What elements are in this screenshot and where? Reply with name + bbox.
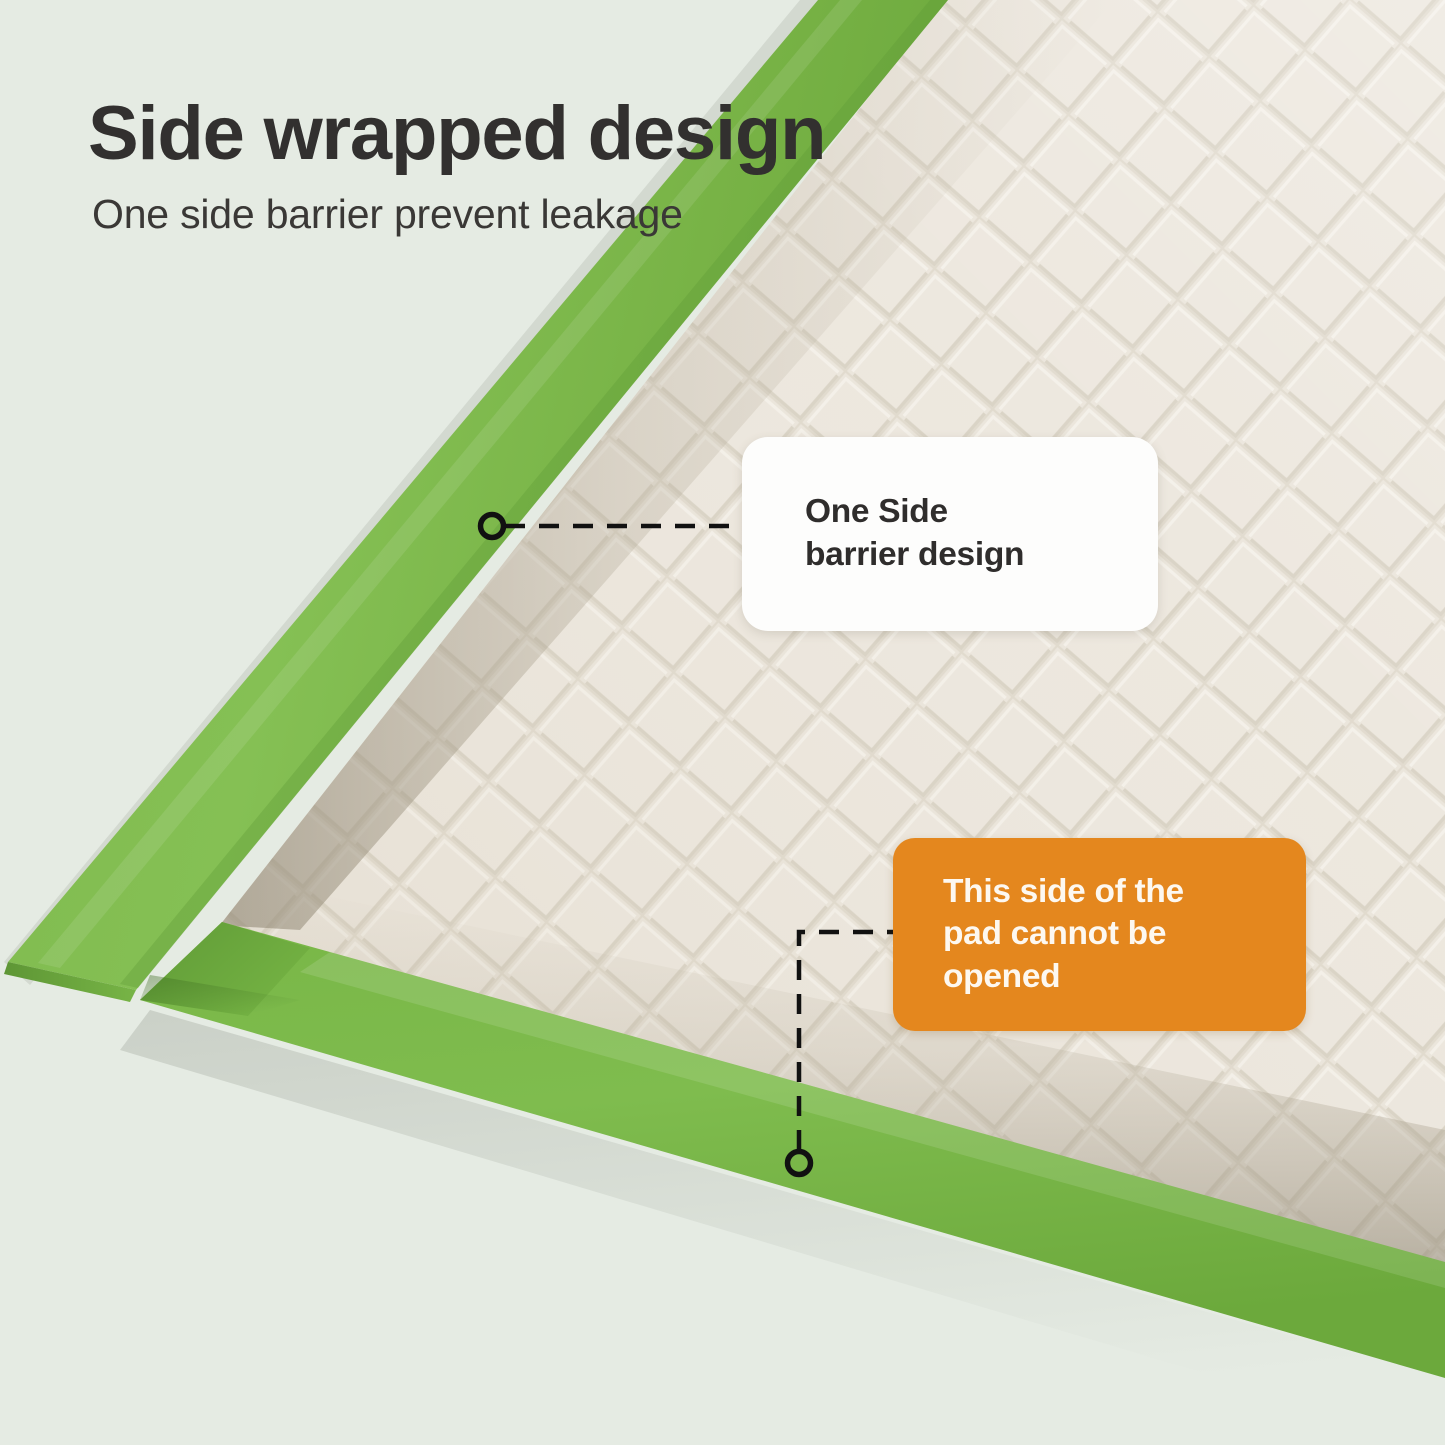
heading-block: Side wrapped design One side barrier pre… [88, 96, 1088, 235]
callout-one-side-barrier: One Side barrier design [742, 437, 1158, 631]
page-title: Side wrapped design [88, 96, 1088, 172]
callout-text-line-1: One Side [805, 491, 1158, 534]
callout-text-line-2: barrier design [805, 534, 1158, 577]
page-subtitle: One side barrier prevent leakage [92, 194, 1088, 235]
callout-text-line-3: opened [943, 956, 1306, 999]
callout-text-line-1: This side of the [943, 871, 1306, 914]
callout-text-line-2: pad cannot be [943, 913, 1306, 956]
product-infographic: Side wrapped design One side barrier pre… [0, 0, 1445, 1445]
callout-side-cannot-be-opened: This side of the pad cannot be opened [893, 838, 1306, 1031]
